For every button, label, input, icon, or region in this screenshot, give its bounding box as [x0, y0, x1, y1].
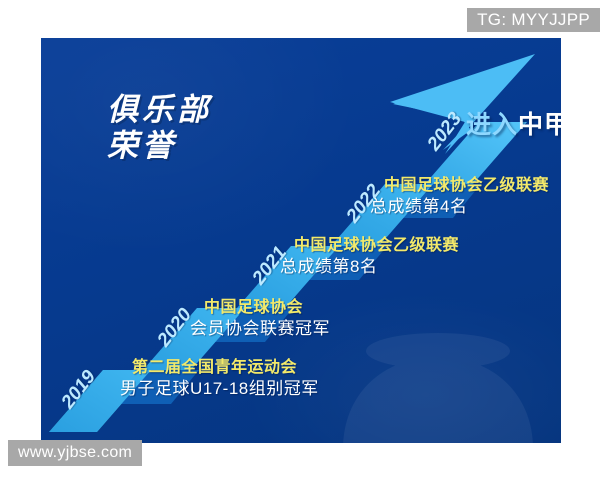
title-line-2: 荣誉 — [107, 128, 212, 164]
achievement-2021-subline: 总成绩第8名 — [280, 256, 459, 278]
poster-panel: 俱乐部 荣誉 2019 2020 2021 2022 2023 第二届全国青年运… — [41, 38, 561, 443]
achievement-2020-subline: 会员协会联赛冠军 — [190, 318, 330, 340]
title-line-1: 俱乐部 — [107, 92, 212, 127]
telegram-watermark: TG: MYYJJPP — [467, 8, 600, 32]
page-title: 俱乐部 荣誉 — [107, 92, 212, 164]
achievement-2020-headline: 中国足球协会 — [204, 298, 330, 318]
achievement-2022-subline: 总成绩第4名 — [370, 196, 549, 218]
site-watermark: www.yjbse.com — [8, 440, 142, 466]
poster-stage: 俱乐部 荣誉 2019 2020 2021 2022 2023 第二届全国青年运… — [0, 0, 600, 480]
arrow-slogan: 进入中甲 — [466, 105, 561, 141]
achievement-2019-headline: 第二届全国青年运动会 — [132, 358, 319, 378]
achievement-2019-subline: 男子足球U17-18组别冠军 — [120, 378, 319, 400]
achievement-2021: 中国足球协会乙级联赛 总成绩第8名 — [280, 236, 459, 278]
achievement-2022: 中国足球协会乙级联赛 总成绩第4名 — [370, 176, 549, 218]
arrow-slogan-part2: 中甲 — [518, 111, 561, 139]
achievement-2021-headline: 中国足球协会乙级联赛 — [294, 236, 459, 256]
achievement-2022-headline: 中国足球协会乙级联赛 — [384, 176, 549, 196]
achievement-2019: 第二届全国青年运动会 男子足球U17-18组别冠军 — [120, 358, 319, 400]
achievement-2020: 中国足球协会 会员协会联赛冠军 — [190, 298, 330, 340]
arrow-slogan-part1: 进入 — [466, 111, 518, 139]
